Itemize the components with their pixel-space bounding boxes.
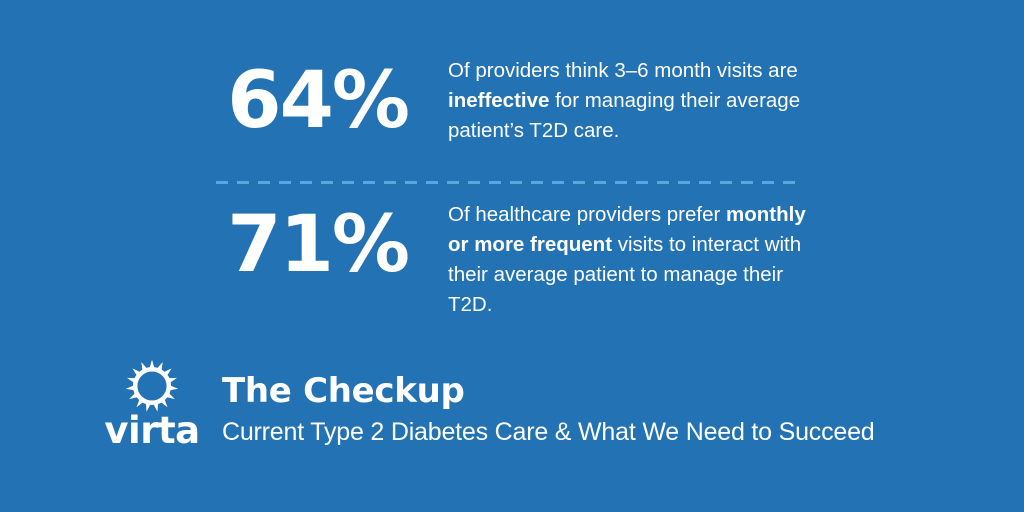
footer-subtitle: Current Type 2 Diabetes Care & What We N…: [222, 415, 875, 449]
virta-logo-lockup: virta: [96, 358, 208, 449]
footer-brand-bar: virta The Checkup Current Type 2 Diabete…: [0, 358, 1024, 478]
stat-block-2: 71% Of healthcare providers prefer month…: [0, 200, 808, 320]
stat-description-1-part-1: Of providers think 3–6 month visits are: [448, 59, 798, 82]
stat-description-2-part-1: Of healthcare providers prefer: [448, 203, 726, 226]
dashed-divider: [216, 181, 802, 184]
stat-percentage-2: 71%: [0, 200, 408, 284]
stat-description-1-emphasis: ineffective: [448, 89, 549, 112]
stat-percentage-1: 64%: [0, 56, 408, 140]
sun-icon: [124, 358, 180, 414]
footer-title: The Checkup: [222, 370, 875, 412]
infographic-canvas: 64% Of providers think 3–6 month visits …: [0, 0, 1024, 512]
footer-text-group: The Checkup Current Type 2 Diabetes Care…: [222, 370, 875, 449]
stat-description-1: Of providers think 3–6 month visits are …: [448, 56, 808, 146]
stat-description-2: Of healthcare providers prefer monthly o…: [448, 200, 808, 320]
virta-wordmark: virta: [96, 412, 208, 449]
stat-block-1: 64% Of providers think 3–6 month visits …: [0, 56, 808, 146]
